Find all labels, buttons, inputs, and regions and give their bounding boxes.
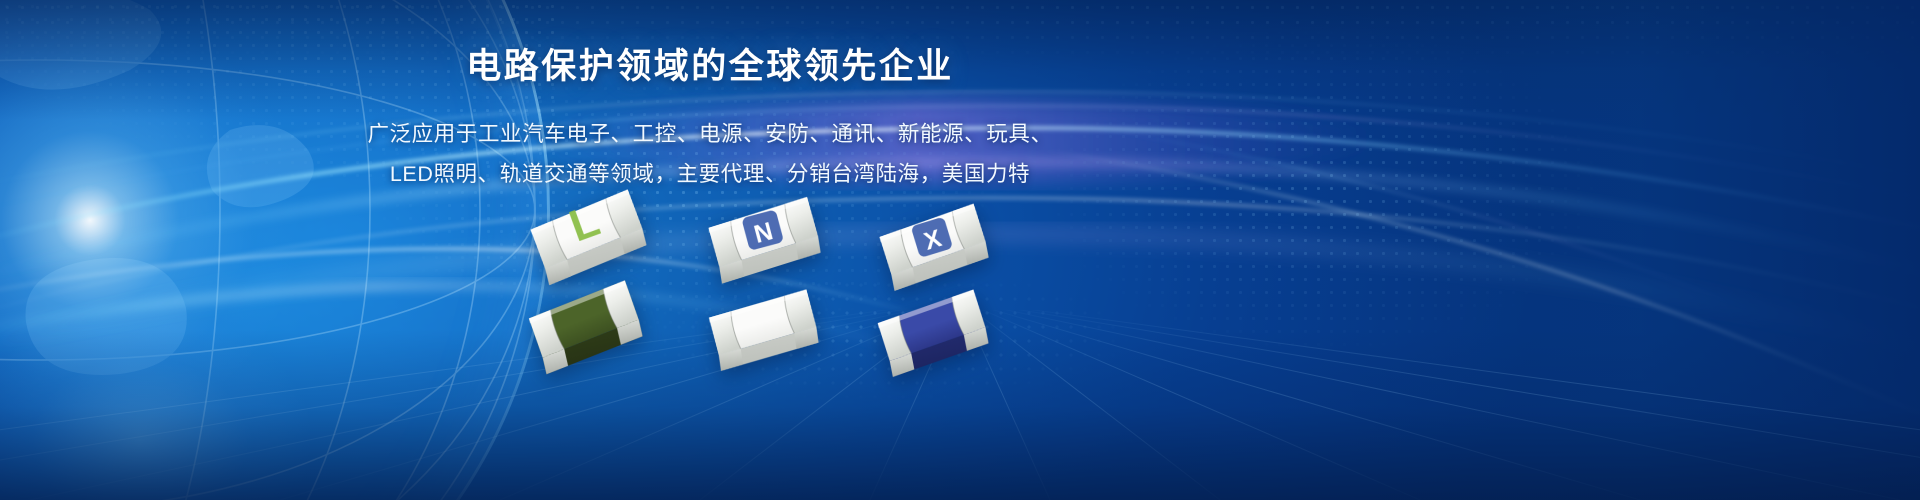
banner-copy: 电路保护领域的全球领先企业 广泛应用于工业汽车电子、工控、电源、安防、通讯、新能… [0, 38, 1420, 194]
subtitle-line-2: LED照明、轨道交通等领域，主要代理、分销台湾陆海，美国力特 [0, 154, 1420, 194]
product-chip-5[interactable] [699, 281, 827, 403]
subtitle-line-1: 广泛应用于工业汽车电子、工控、电源、安防、通讯、新能源、玩具、 [0, 114, 1420, 154]
hero-banner: 电路保护领域的全球领先企业 广泛应用于工业汽车电子、工控、电源、安防、通讯、新能… [0, 0, 1920, 500]
product-chip-6[interactable] [867, 280, 1000, 409]
page-title: 电路保护领域的全球领先企业 [0, 38, 1420, 89]
